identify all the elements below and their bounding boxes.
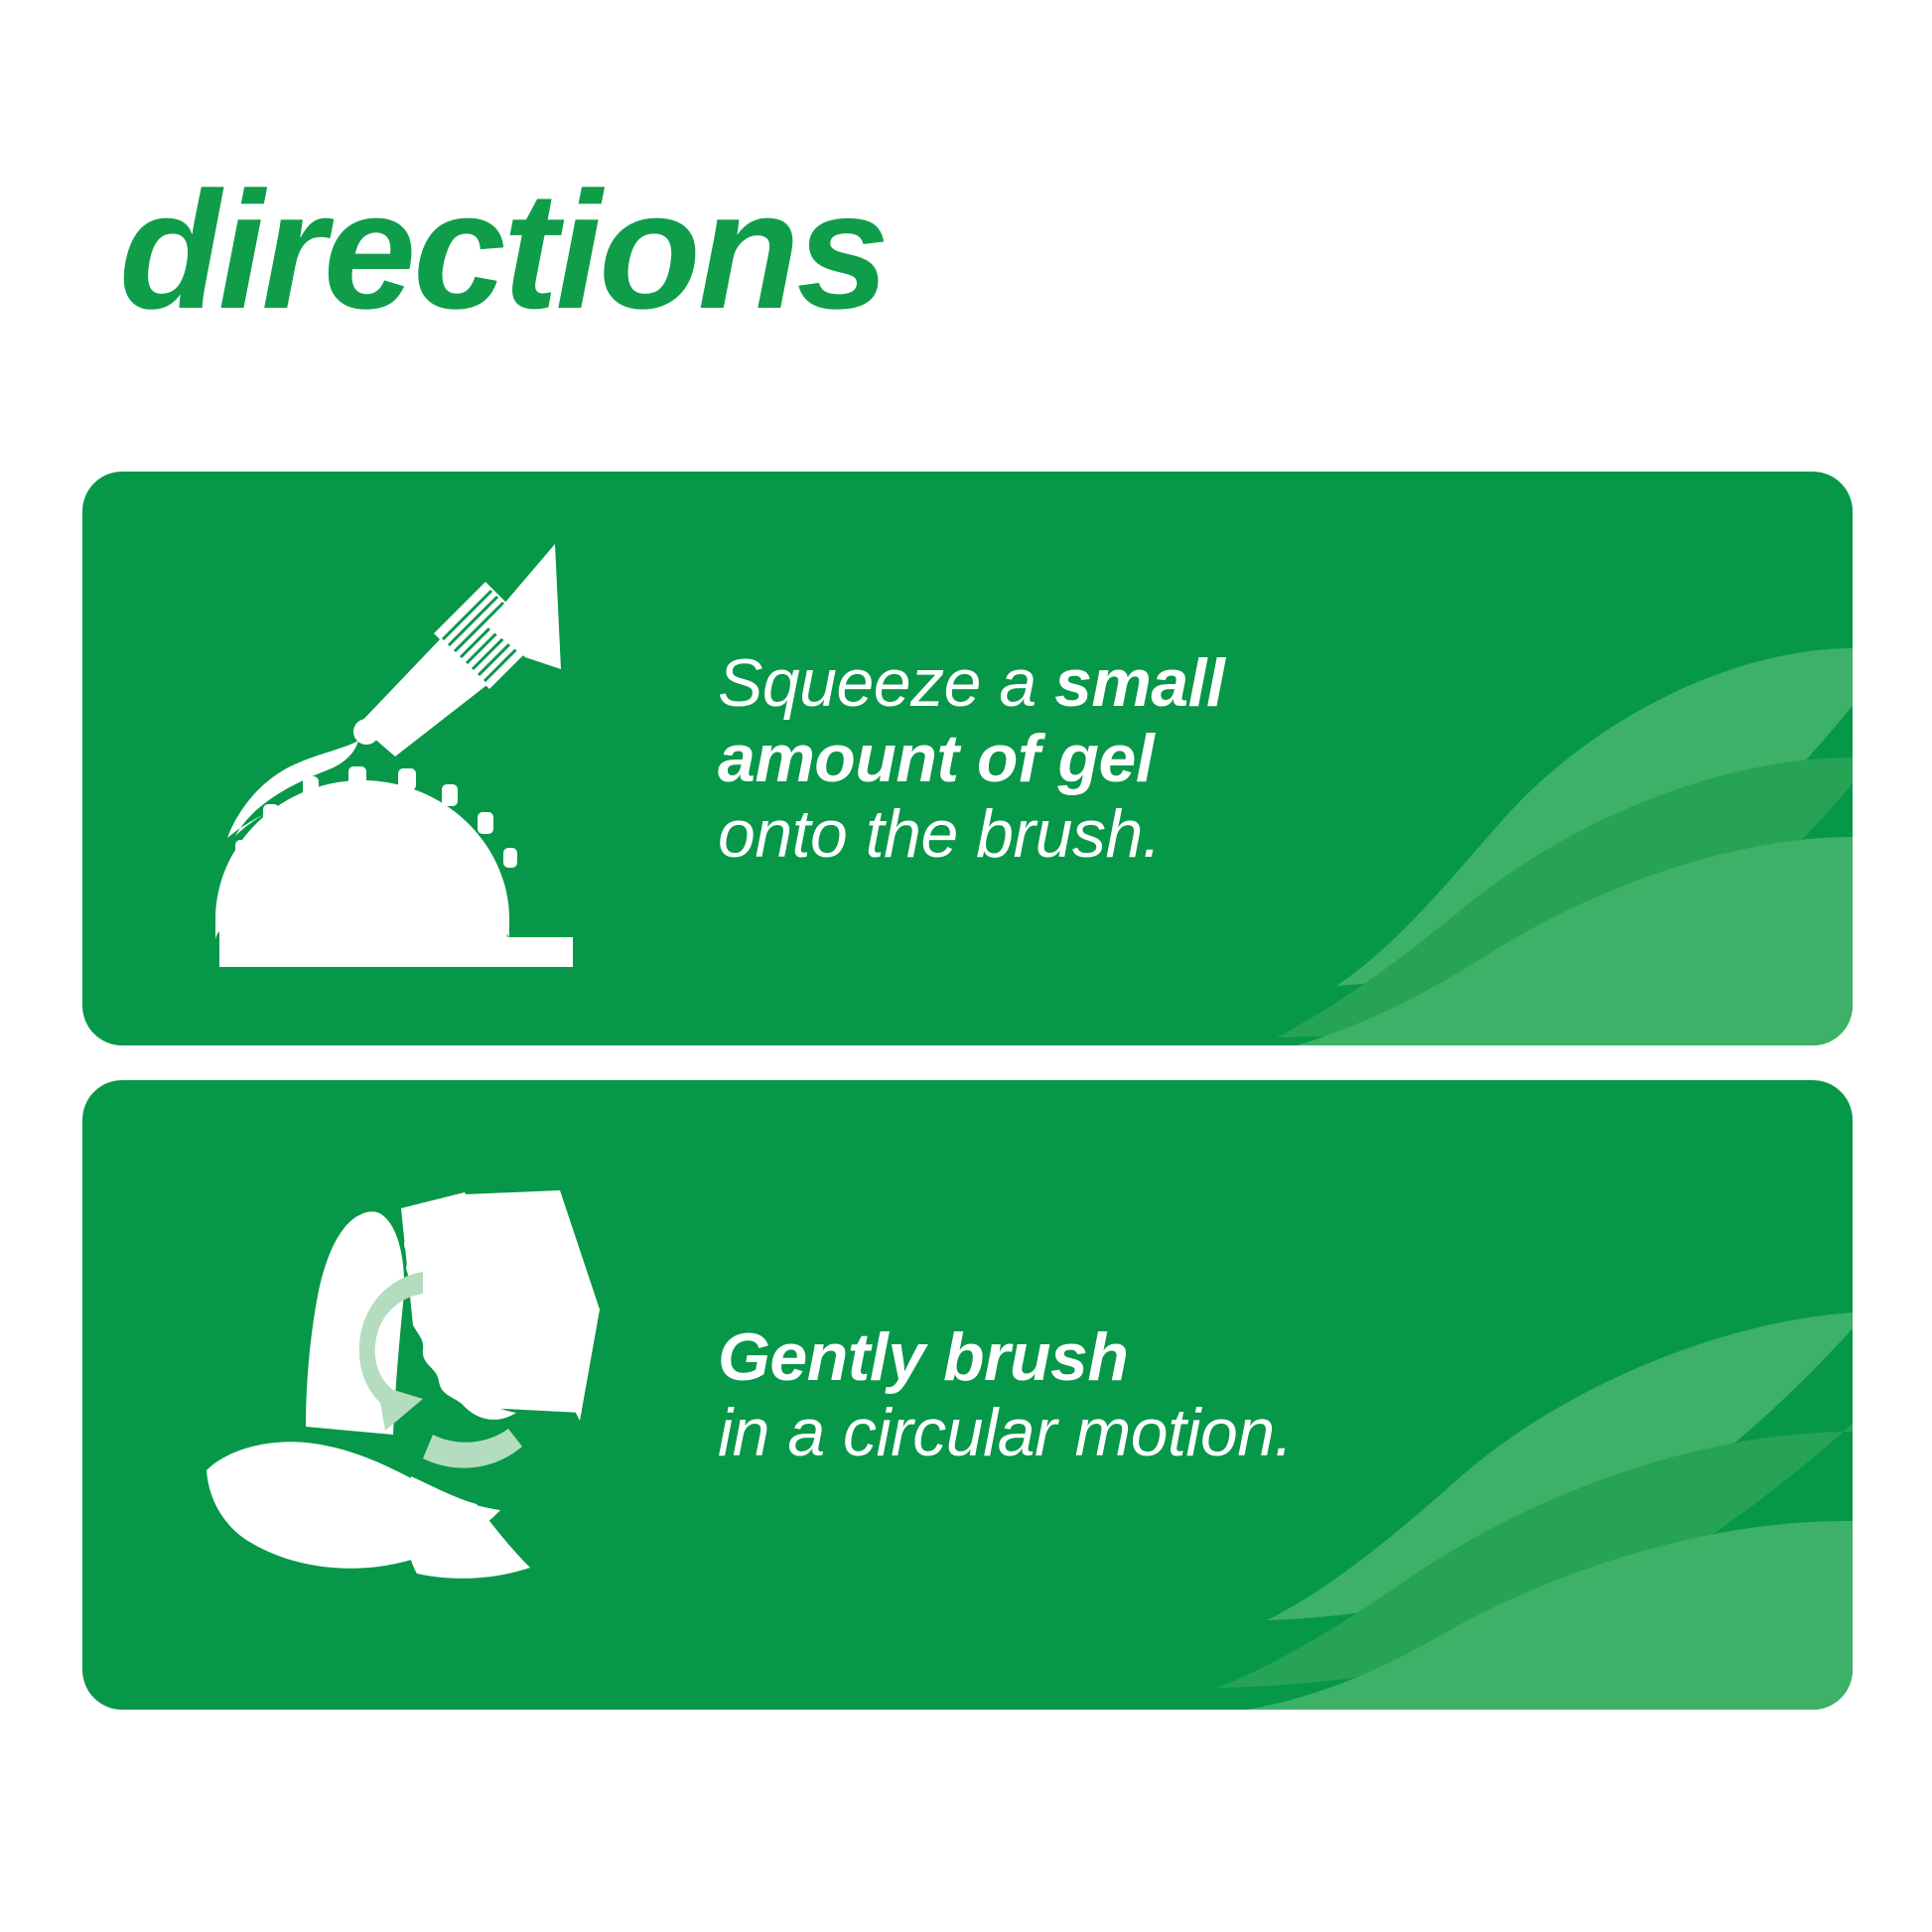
step-2-line1-bold: Gently brush	[718, 1319, 1128, 1395]
step-2-line2-normal: in a circular motion.	[718, 1395, 1293, 1470]
step-1-illustration	[82, 472, 718, 1045]
step-1-line1-bold: small	[1054, 645, 1224, 721]
hand-brushing-denture-circular-motion-icon	[167, 1186, 633, 1603]
gel-tube-squeezing-onto-denture-brush-icon	[192, 530, 609, 987]
step-card-2: Gently brush in a circular motion.	[82, 1080, 1853, 1710]
step-1-text: Squeeze a small amount of gel onto the b…	[718, 645, 1353, 872]
step-2-illustration	[82, 1080, 718, 1710]
step-1-line1-normal: Squeeze a	[718, 645, 1054, 721]
step-1-line3-normal: onto the brush.	[718, 796, 1161, 872]
step-card-1: Squeeze a small amount of gel onto the b…	[82, 472, 1853, 1045]
step-2-text: Gently brush in a circular motion.	[718, 1319, 1353, 1470]
directions-infographic: directions	[0, 0, 1932, 1932]
step-1-line2-bold: amount of gel	[718, 721, 1154, 796]
page-title: directions	[119, 167, 887, 334]
